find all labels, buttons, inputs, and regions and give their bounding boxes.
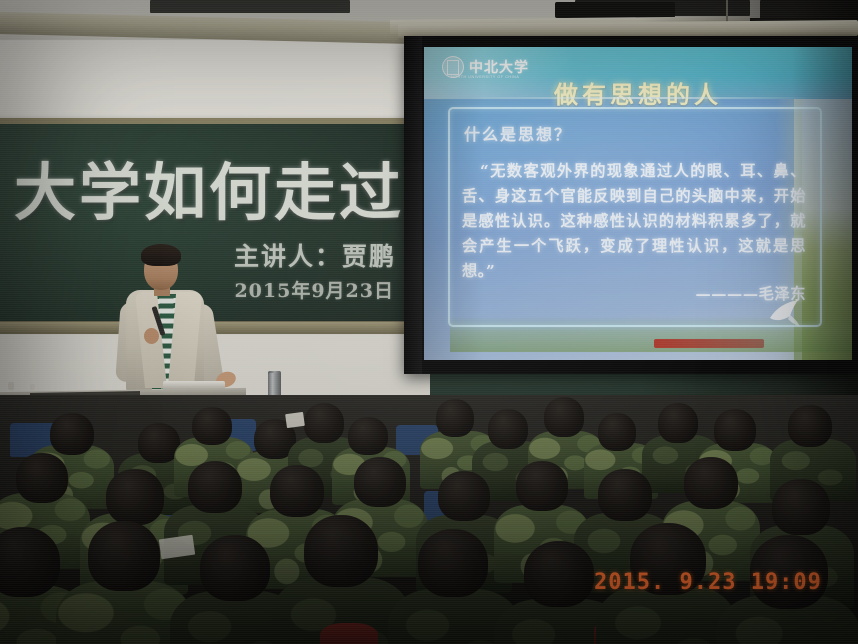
presentation-slide: 中北大学 NORTH UNIVERSITY OF CHINA 做有思想的人 什么… — [424, 47, 852, 360]
student-head — [488, 409, 528, 449]
student-head — [516, 461, 568, 511]
camera-timestamp: 2015. 9.23 19:09 — [594, 570, 822, 595]
student-head — [88, 521, 160, 591]
slide-quote-attribution: ————毛泽东 — [462, 282, 806, 307]
dove-icon — [764, 294, 808, 328]
student-head — [598, 469, 652, 521]
student-head — [200, 535, 270, 601]
student-head — [436, 399, 474, 437]
lecturer-left-hand — [144, 328, 159, 344]
student-head — [50, 413, 94, 455]
student-head — [598, 413, 636, 451]
student-head — [304, 403, 344, 443]
audience — [0, 395, 858, 644]
slide-title: 做有思想的人 — [424, 75, 852, 110]
blackboard-title-text: 大学如何走过 — [14, 142, 402, 232]
lecturer — [96, 244, 246, 404]
lecturer-hair — [141, 244, 181, 266]
student-head — [684, 457, 738, 509]
blackboard-date-text: 2015年9月23日 — [234, 276, 394, 303]
student-head — [0, 527, 60, 597]
slide-quote-text: “无数客观外界的现象通过人的眼、耳、鼻、舌、身这五个官能反映到自己的头脑中来，开… — [462, 162, 806, 280]
student-head — [418, 529, 488, 597]
student-head — [524, 541, 594, 607]
ceiling-panel — [150, 0, 350, 13]
student-head — [304, 515, 378, 587]
student-head — [270, 465, 324, 517]
student-head — [788, 405, 832, 447]
university-name-cn: 中北大学 — [469, 57, 529, 77]
desk-object — [8, 382, 14, 390]
slide-title-underline — [468, 97, 814, 99]
student-head — [348, 417, 388, 455]
student-head — [188, 461, 242, 513]
student-head — [772, 479, 830, 535]
lecture-hall-photo: 大学如何走过 主讲人：贾鹏 2015年9月23日 中北大学 NORTH UNIV… — [0, 0, 858, 644]
projection-screen-edge — [404, 36, 422, 374]
red-shirt — [320, 623, 378, 644]
student-head — [658, 403, 698, 443]
blackboard-speaker-text: 主讲人：贾鹏 — [234, 237, 396, 273]
student-head — [438, 471, 490, 521]
student-head — [354, 457, 406, 507]
slide-red-banner — [654, 339, 764, 348]
student-head — [544, 397, 584, 437]
desk-object — [30, 384, 35, 390]
student-head — [16, 453, 68, 503]
handout-paper — [285, 412, 305, 428]
slide-question: 什么是思想？ — [464, 121, 572, 145]
student-head — [714, 409, 756, 451]
slide-quote-block: “无数客观外界的现象通过人的眼、耳、鼻、舌、身这五个官能反映到自己的头脑中来，开… — [462, 159, 806, 307]
student-head — [106, 469, 164, 525]
student-head — [192, 407, 232, 445]
